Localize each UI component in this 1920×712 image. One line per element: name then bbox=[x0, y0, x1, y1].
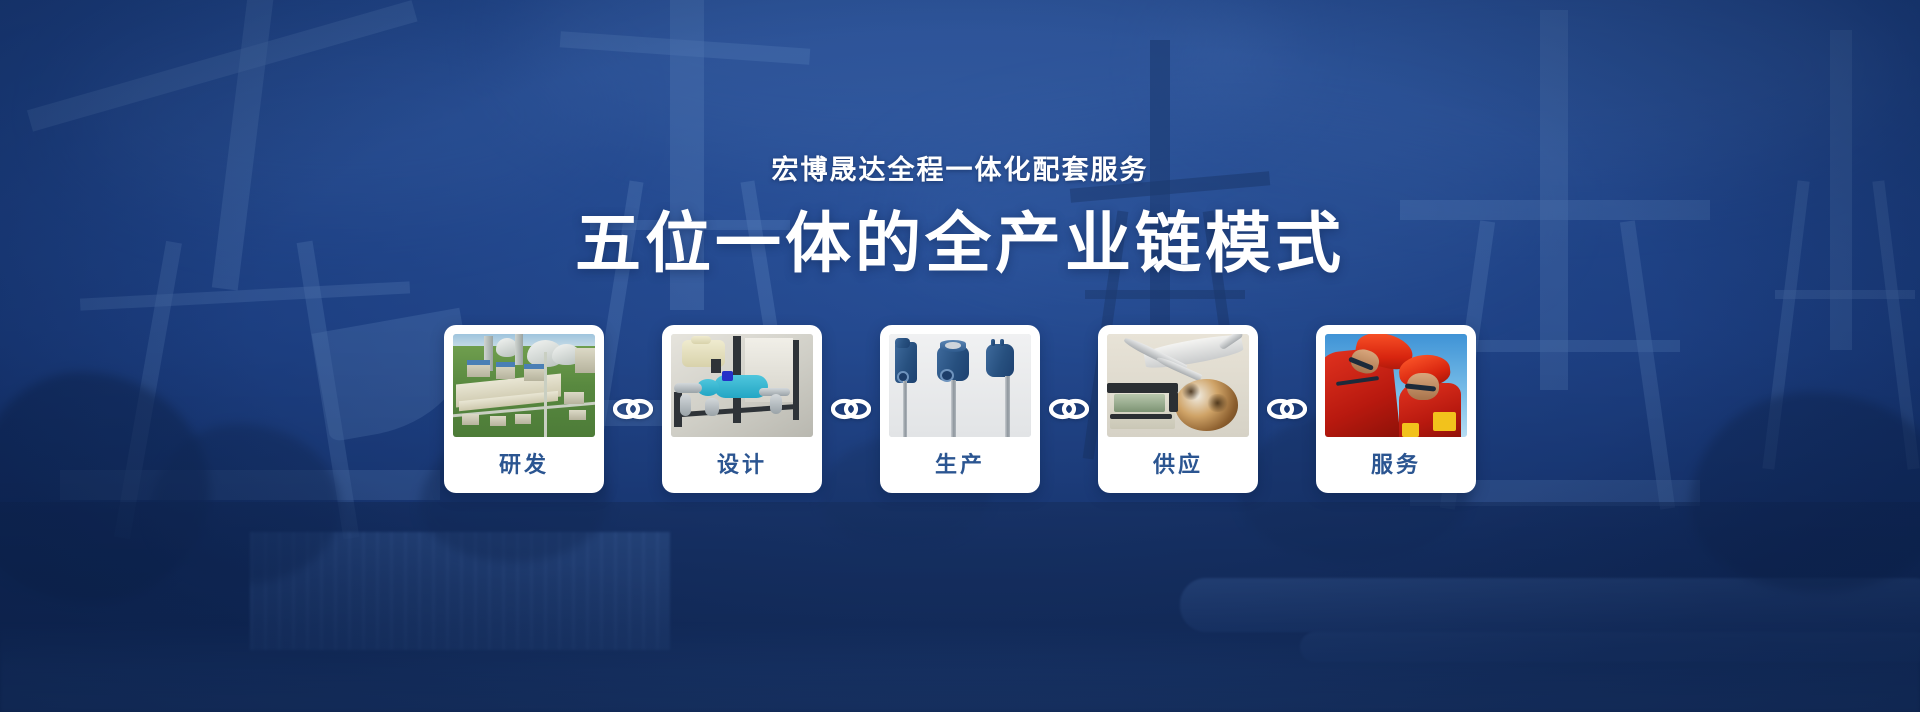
chain-card-supply[interactable]: 供应 bbox=[1098, 325, 1258, 493]
blue-level-instruments-image bbox=[889, 334, 1031, 437]
industrial-plant-aerial-image bbox=[453, 334, 595, 437]
chain-link-icon bbox=[822, 396, 880, 422]
chain-link-icon bbox=[1258, 396, 1316, 422]
cad-pump-skid-image bbox=[671, 334, 813, 437]
chain-link-icon bbox=[1040, 396, 1098, 422]
chain-card-label: 服务 bbox=[1371, 437, 1421, 493]
chain-card-service[interactable]: 服务 bbox=[1316, 325, 1476, 493]
chain-card-production[interactable]: 生产 bbox=[880, 325, 1040, 493]
chain-link-icon bbox=[604, 396, 662, 422]
chain-card-label: 设计 bbox=[717, 437, 767, 493]
value-chain-row: 研发 bbox=[444, 325, 1476, 493]
chain-card-label: 研发 bbox=[499, 437, 549, 493]
logistics-plane-truck-globe-image bbox=[1107, 334, 1249, 437]
chain-card-label: 供应 bbox=[1153, 437, 1203, 493]
chain-card-label: 生产 bbox=[935, 437, 985, 493]
banner-subtitle: 宏博晟达全程一体化配套服务 bbox=[772, 148, 1149, 187]
banner-title: 五位一体的全产业链模式 bbox=[575, 209, 1345, 279]
field-workers-red-helmets-image bbox=[1325, 334, 1467, 437]
banner-root: 宏博晟达全程一体化配套服务 五位一体的全产业链模式 bbox=[0, 0, 1920, 712]
chain-card-design[interactable]: 设计 bbox=[662, 325, 822, 493]
chain-card-rd[interactable]: 研发 bbox=[444, 325, 604, 493]
